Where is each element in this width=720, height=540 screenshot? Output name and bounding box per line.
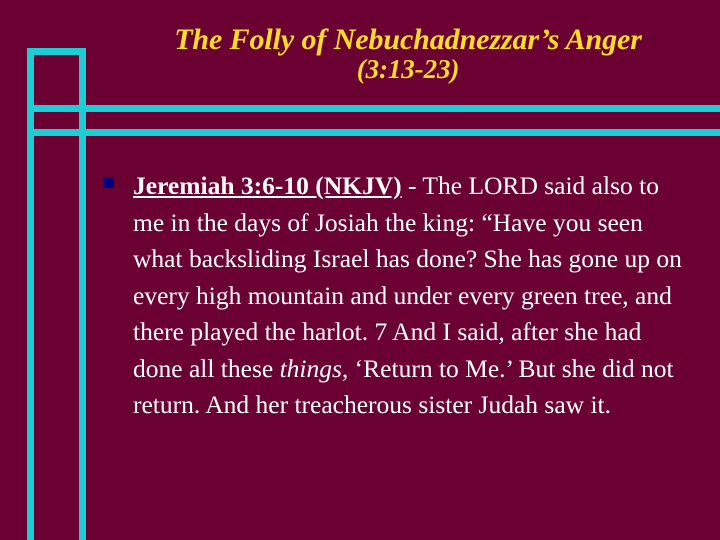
slide-body: Jeremiah 3:6-10 (NKJV) - The LORD said a… <box>100 168 686 424</box>
decorative-square-outline <box>27 48 86 112</box>
decorative-horizontal-line-bottom <box>27 129 720 136</box>
bullet-item-text: Jeremiah 3:6-10 (NKJV) - The LORD said a… <box>133 168 686 424</box>
slide-title: The Folly of Nebuchadnezzar’s Anger (3:1… <box>96 24 720 83</box>
square-bullet-icon <box>103 177 114 188</box>
decorative-vertical-line-right <box>79 48 86 540</box>
slide-canvas: The Folly of Nebuchadnezzar’s Anger (3:1… <box>0 0 720 540</box>
bullet-list-item: Jeremiah 3:6-10 (NKJV) - The LORD said a… <box>100 168 686 424</box>
body-text-italic: things, <box>280 354 349 383</box>
decorative-horizontal-line-top <box>27 105 720 112</box>
decorative-vertical-line-left <box>27 48 34 540</box>
scripture-reference-link[interactable]: Jeremiah 3:6-10 (NKJV) <box>133 171 402 200</box>
slide-title-line-2: (3:13-23) <box>96 55 720 83</box>
slide-title-line-1: The Folly of Nebuchadnezzar’s Anger <box>96 24 720 55</box>
body-text-part-1: - The LORD said also to me in the days o… <box>133 171 682 383</box>
